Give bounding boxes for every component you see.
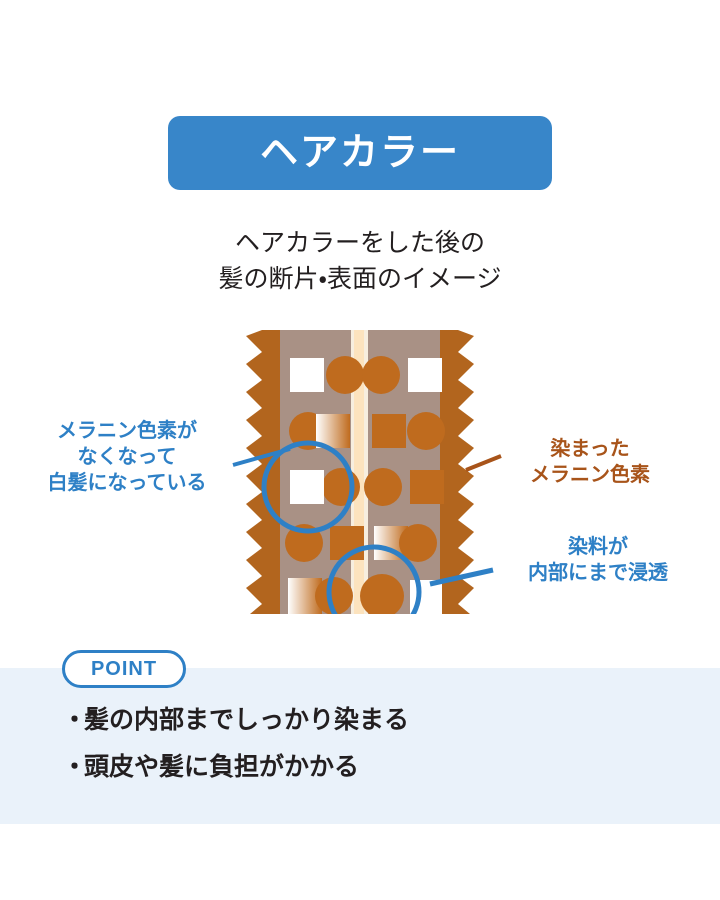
point-badge: POINT (62, 650, 186, 688)
title-banner: ヘアカラー (168, 116, 552, 190)
row3-left-white-square (290, 470, 324, 504)
row1-left-white-square (290, 358, 324, 392)
page-title: ヘアカラー (260, 134, 460, 172)
row1-right-white-square (408, 358, 442, 392)
cuticle-left (246, 330, 280, 614)
melanin-lost-line-1: メラニン色素が (16, 418, 238, 444)
infographic-root: ヘアカラー ヘアカラーをした後の 髪の断片・表面のイメージ (0, 0, 720, 900)
point-list: ・ 髪の内部までしっかり染まる ・ 頭皮や髪に負担がかかる (62, 708, 662, 802)
melanin-lost-annotation: メラニン色素が なくなって 白髪になっている (16, 418, 238, 496)
row1-right-pigment-circle (362, 356, 400, 394)
row2-right-pigment-circle (407, 412, 445, 450)
melanin-lost-line-3: 白髪になっている (16, 470, 238, 496)
dyed-melanin-annotation: 染まった メラニン色素 (474, 436, 706, 488)
bullet-marker: ・ (62, 708, 84, 733)
dyed-melanin-line-1: 染まった (474, 436, 706, 462)
row3-right-pigment-circle (364, 468, 402, 506)
bullet-marker: ・ (62, 755, 84, 780)
subtitle: ヘアカラーをした後の 髪の断片・表面のイメージ (0, 226, 720, 297)
hair-diagram (246, 330, 474, 614)
row1-left-pigment-circle (326, 356, 364, 394)
list-item: ・ 髪の内部までしっかり染まる (62, 708, 662, 733)
dye-penetration-line-2: 内部にまで浸透 (480, 560, 716, 586)
point-item-label: 髪の内部までしっかり染まる (84, 708, 409, 733)
dye-penetration-annotation: 染料が 内部にまで浸透 (480, 534, 716, 586)
melanin-lost-line-2: なくなって (16, 444, 238, 470)
row3-right-pigment-square (410, 470, 444, 504)
row2-right-pigment-square (372, 414, 406, 448)
subtitle-line-1: ヘアカラーをした後の (0, 226, 720, 262)
list-item: ・ 頭皮や髪に負担がかかる (62, 755, 662, 780)
point-item-label: 頭皮や髪に負担がかかる (84, 755, 359, 780)
dye-penetration-line-1: 染料が (480, 534, 716, 560)
subtitle-line-2: 髪の断片・表面のイメージ (0, 262, 720, 298)
cuticle-right (440, 330, 474, 614)
dyed-melanin-line-2: メラニン色素 (474, 462, 706, 488)
point-badge-label: POINT (91, 658, 157, 681)
